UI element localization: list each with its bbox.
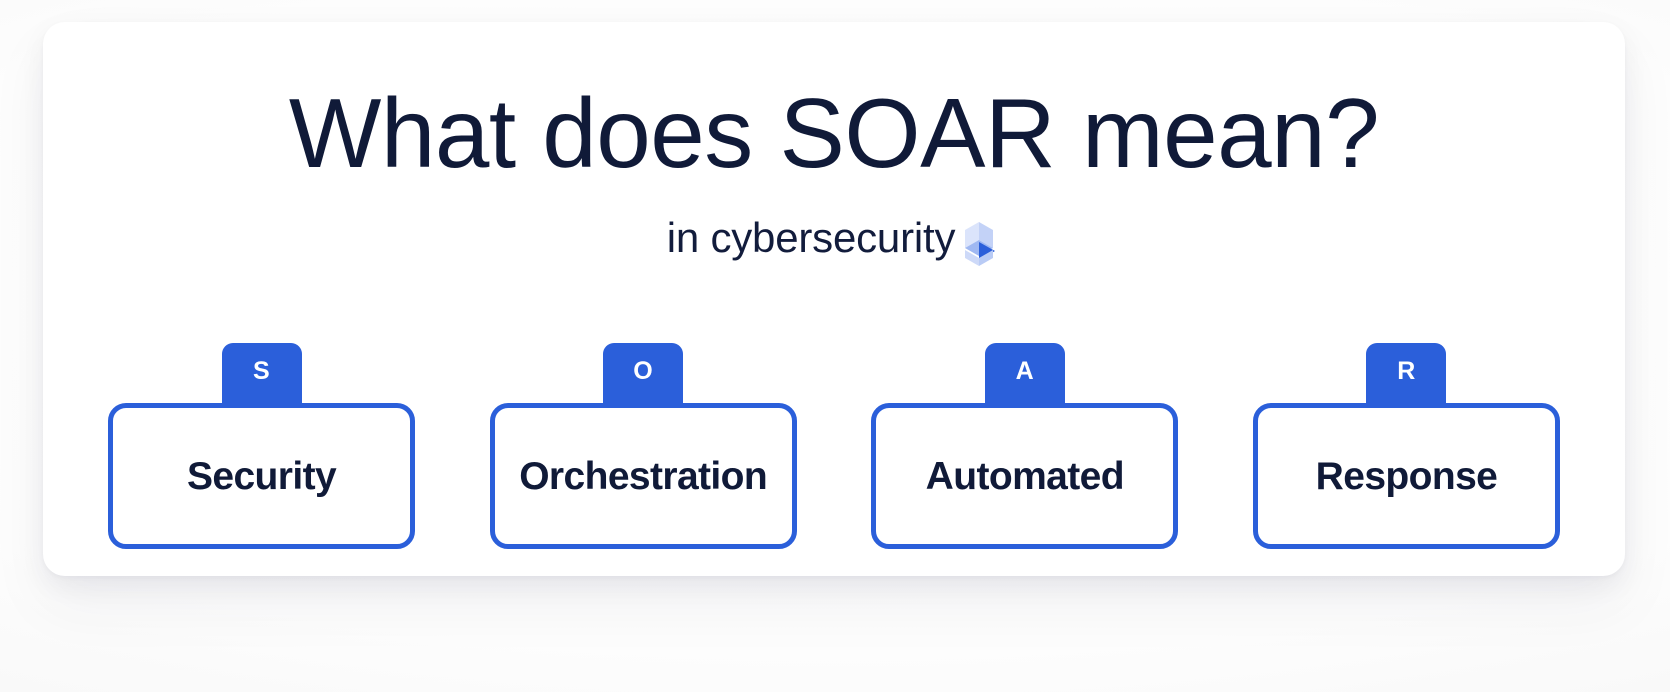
content-panel: What does SOAR mean? in cybersecurity <box>43 22 1625 576</box>
card-label: Response <box>1316 457 1498 496</box>
card-body[interactable]: Automated <box>871 403 1178 549</box>
card-body[interactable]: Security <box>108 403 415 549</box>
card-label: Orchestration <box>519 457 767 496</box>
brand-logo-icon <box>957 218 1001 268</box>
page-title: What does SOAR mean? <box>43 82 1625 185</box>
page-subtitle: in cybersecurity <box>667 217 956 259</box>
card-label: Security <box>187 457 336 496</box>
card-body[interactable]: Orchestration <box>490 403 797 549</box>
soar-card-o[interactable]: O Orchestration <box>490 343 797 549</box>
soar-card-r[interactable]: R Response <box>1253 343 1560 549</box>
card-body[interactable]: Response <box>1253 403 1560 549</box>
soar-card-s[interactable]: S Security <box>108 343 415 549</box>
subtitle-row: in cybersecurity <box>43 208 1625 268</box>
soar-cards-row: S Security O Orchestration A Automated R… <box>108 343 1560 549</box>
card-label: Automated <box>926 457 1124 496</box>
soar-card-a[interactable]: A Automated <box>871 343 1178 549</box>
